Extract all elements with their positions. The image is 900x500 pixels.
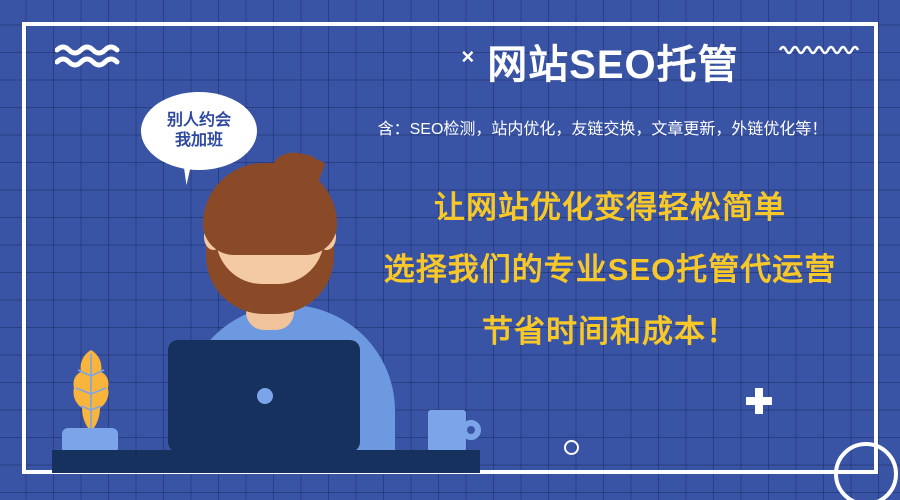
- speech-bubble-line-1: 别人约会: [167, 111, 231, 131]
- mouth: [241, 258, 299, 275]
- hair-fringe: [213, 198, 327, 228]
- laptop-logo-icon: [257, 388, 273, 404]
- coffee-mug-handle-icon: [461, 420, 481, 440]
- potted-plant-icon: [70, 348, 112, 434]
- speech-bubble: 别人约会 我加班: [141, 92, 257, 170]
- speech-bubble-line-2: 我加班: [175, 131, 223, 151]
- seo-hosting-banner: ×网站SEO托管 含：SEO检测，站内优化，友链交换，文章更新，外链优化等！ 让…: [0, 0, 900, 500]
- desk: [52, 450, 480, 473]
